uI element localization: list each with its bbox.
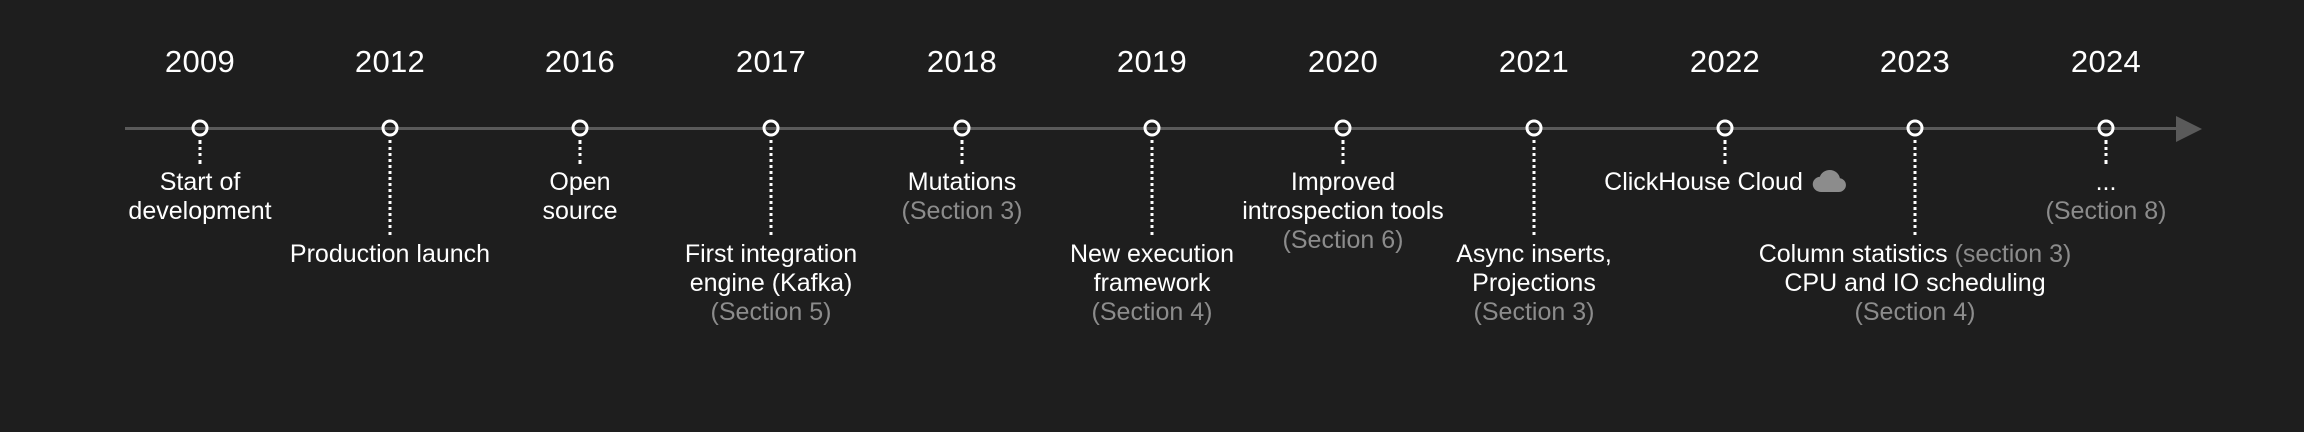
- timeline-year-label: 2021: [1499, 44, 1569, 80]
- timeline-event-label-line: Projections: [1456, 269, 1612, 298]
- timeline-connector-line: [770, 140, 773, 235]
- timeline-marker-circle-icon[interactable]: [1144, 120, 1161, 137]
- timeline-event-label-line: Improved: [1242, 168, 1444, 197]
- timeline-axis-arrow-icon: [2176, 116, 2202, 142]
- timeline-section-ref: (Section 3): [902, 197, 1023, 226]
- timeline-marker-circle-icon[interactable]: [1717, 120, 1734, 137]
- timeline-year-label: 2016: [545, 44, 615, 80]
- timeline-event-label-line: First integration: [685, 240, 857, 269]
- timeline-connector-line: [1342, 140, 1345, 164]
- timeline-event-label: Improvedintrospection tools(Section 6): [1242, 168, 1444, 255]
- timeline-marker-circle-icon[interactable]: [382, 120, 399, 137]
- timeline-event-label: Mutations(Section 3): [902, 168, 1023, 226]
- timeline-event-label-line: New execution: [1070, 240, 1234, 269]
- timeline-marker-circle-icon[interactable]: [572, 120, 589, 137]
- timeline-event-label-line: ClickHouse Cloud: [1604, 168, 1846, 200]
- timeline-section-ref: (Section 6): [1242, 226, 1444, 255]
- timeline-event-label: ClickHouse Cloud: [1604, 168, 1846, 200]
- timeline-connector-line: [1533, 140, 1536, 235]
- timeline-event-label: Async inserts,Projections(Section 3): [1456, 240, 1612, 327]
- timeline-event-label-line: development: [128, 197, 271, 226]
- timeline-year-label: 2020: [1308, 44, 1378, 80]
- timeline-year-label: 2024: [2071, 44, 2141, 80]
- timeline-event-label-line: introspection tools: [1242, 197, 1444, 226]
- timeline-connector-line: [579, 140, 582, 164]
- timeline-event-label: Start ofdevelopment: [128, 168, 271, 226]
- timeline-connector-line: [199, 140, 202, 164]
- timeline-connector-line: [1151, 140, 1154, 235]
- timeline-connector-line: [1914, 140, 1917, 235]
- timeline-connector-line: [961, 140, 964, 164]
- timeline-event-label-line: Production launch: [290, 240, 490, 269]
- timeline-year-label: 2018: [927, 44, 997, 80]
- timeline-marker-circle-icon[interactable]: [1907, 120, 1924, 137]
- timeline-section-ref: (Section 4): [1759, 298, 2072, 327]
- timeline-connector-line: [2105, 140, 2108, 164]
- timeline-event-label: Opensource: [542, 168, 617, 226]
- timeline-event-label-line: source: [542, 197, 617, 226]
- timeline-event-label-line: framework: [1070, 269, 1234, 298]
- timeline-year-label: 2019: [1117, 44, 1187, 80]
- cloud-icon: [1812, 170, 1846, 200]
- timeline-event-label-line: ...: [2046, 168, 2167, 197]
- timeline-event-label: ...(Section 8): [2046, 168, 2167, 226]
- timeline-section-ref: (Section 5): [685, 298, 857, 327]
- timeline-section-ref: (Section 8): [2046, 197, 2167, 226]
- timeline-year-label: 2012: [355, 44, 425, 80]
- timeline-section-ref: (Section 4): [1070, 298, 1234, 327]
- timeline-event-label-line: CPU and IO scheduling: [1759, 269, 2072, 298]
- timeline-event-label: New executionframework(Section 4): [1070, 240, 1234, 327]
- timeline-marker-circle-icon[interactable]: [954, 120, 971, 137]
- timeline-event-label: Production launch: [290, 240, 490, 269]
- timeline-event-label-line: Start of: [128, 168, 271, 197]
- timeline-marker-circle-icon[interactable]: [2098, 120, 2115, 137]
- timeline-year-label: 2023: [1880, 44, 1950, 80]
- timeline-event-label-line: Open: [542, 168, 617, 197]
- timeline-section-ref-inline: (section 3): [1948, 240, 2072, 268]
- timeline-event-label-line: Async inserts,: [1456, 240, 1612, 269]
- timeline-section-ref: (Section 3): [1456, 298, 1612, 327]
- timeline-marker-circle-icon[interactable]: [1335, 120, 1352, 137]
- timeline-event-label-line: Column statistics (section 3): [1759, 240, 2072, 269]
- timeline-marker-circle-icon[interactable]: [192, 120, 209, 137]
- timeline-year-label: 2009: [165, 44, 235, 80]
- timeline-year-label: 2017: [736, 44, 806, 80]
- timeline-year-label: 2022: [1690, 44, 1760, 80]
- timeline-event-label-line: engine (Kafka): [685, 269, 857, 298]
- timeline-connector-line: [389, 140, 392, 235]
- timeline-marker-circle-icon[interactable]: [763, 120, 780, 137]
- timeline-event-label-line: Mutations: [902, 168, 1023, 197]
- timeline-event-label: First integrationengine (Kafka)(Section …: [685, 240, 857, 327]
- timeline-connector-line: [1724, 140, 1727, 164]
- timeline-event-label: Column statistics (section 3)CPU and IO …: [1759, 240, 2072, 327]
- timeline: 2009Start ofdevelopment2012Production la…: [0, 0, 2304, 432]
- timeline-marker-circle-icon[interactable]: [1526, 120, 1543, 137]
